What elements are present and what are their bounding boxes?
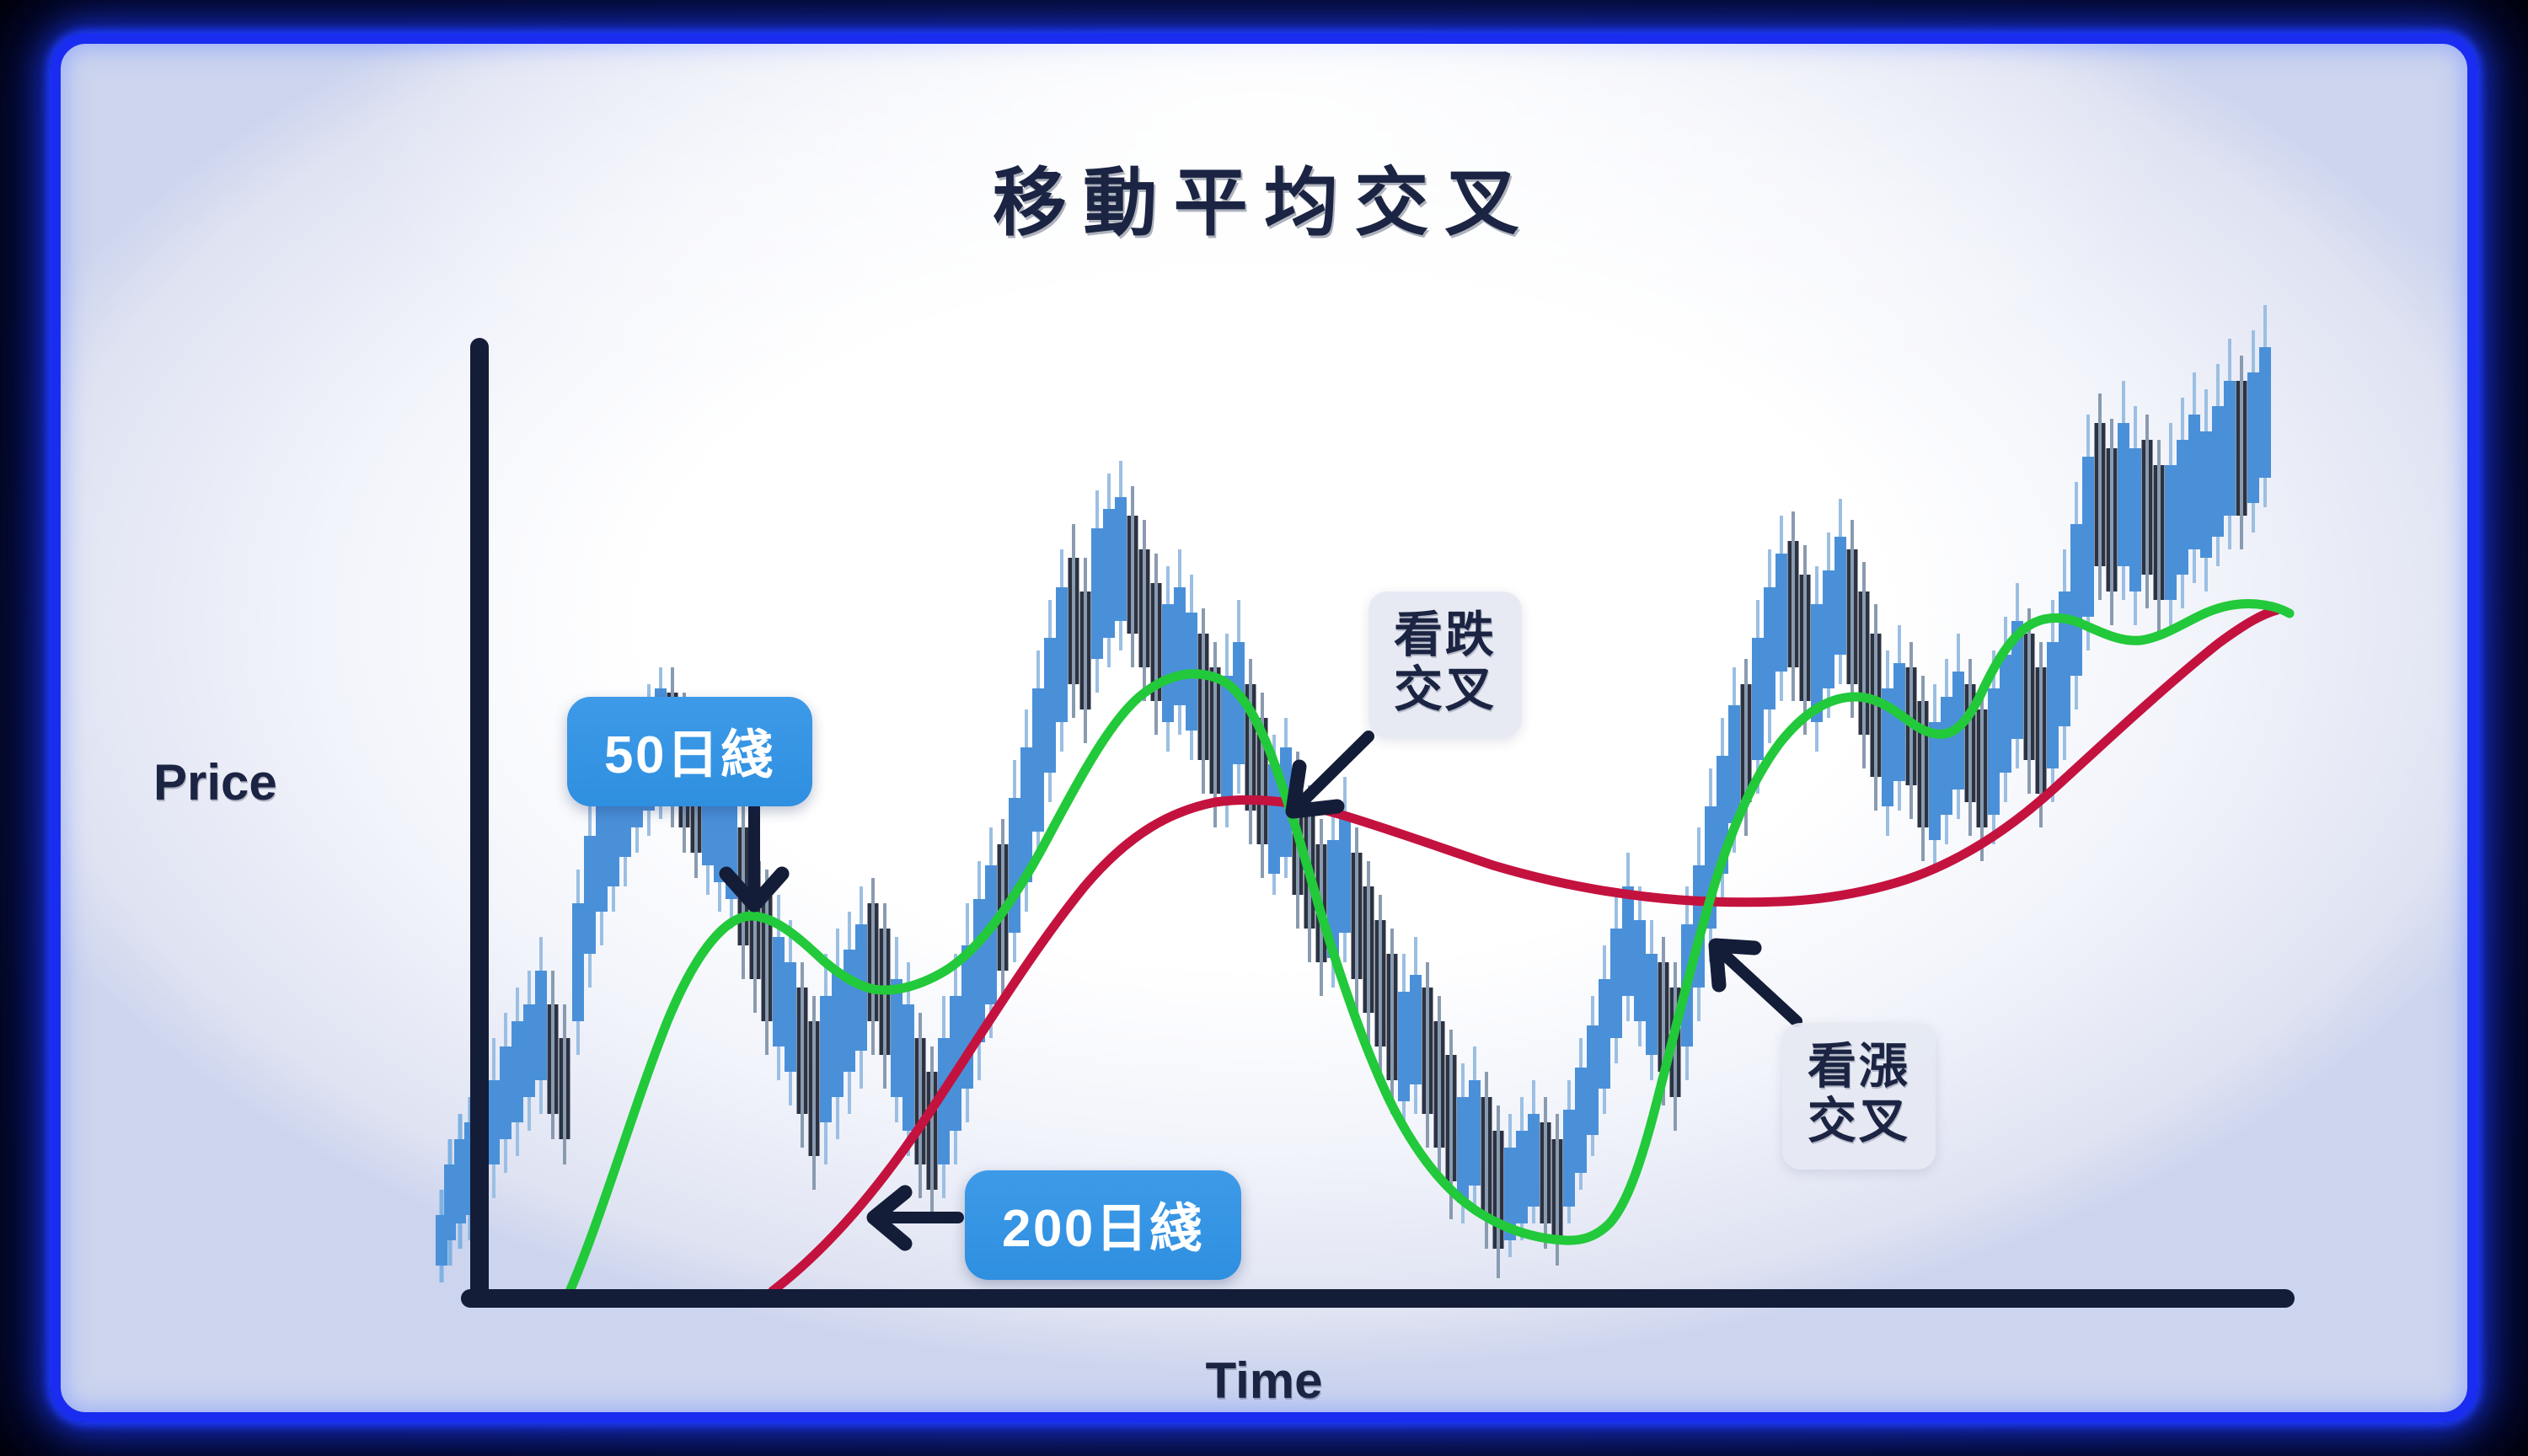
chart-card-frame: 移動平均交叉 bbox=[51, 34, 2477, 1422]
page-title: 移動平均交叉 bbox=[61, 143, 2467, 250]
arrow-to-bearish-cross bbox=[1293, 736, 1368, 811]
chart-plot-area bbox=[61, 44, 2477, 1422]
y-axis-label: Price bbox=[153, 753, 277, 811]
arrow-to-ma200 bbox=[874, 1192, 958, 1244]
screenshot-stage: 移動平均交叉 bbox=[0, 0, 2528, 1456]
callout-bullish-cross: 看漲 交叉 bbox=[1782, 1023, 1936, 1170]
bearish-line-2: 交叉 bbox=[1394, 663, 1497, 718]
callout-bearish-cross: 看跌 交叉 bbox=[1368, 591, 1522, 738]
callout-ma50: 50日綫 bbox=[567, 697, 812, 806]
callout-ma200: 200日綫 bbox=[965, 1170, 1241, 1280]
bullish-line-2: 交叉 bbox=[1808, 1095, 1910, 1149]
bullish-line-1: 看漲 bbox=[1808, 1040, 1910, 1095]
arrow-to-bullish-cross bbox=[1716, 945, 1797, 1021]
x-axis-label: Time bbox=[61, 1352, 2467, 1410]
bearish-line-1: 看跌 bbox=[1394, 608, 1497, 663]
